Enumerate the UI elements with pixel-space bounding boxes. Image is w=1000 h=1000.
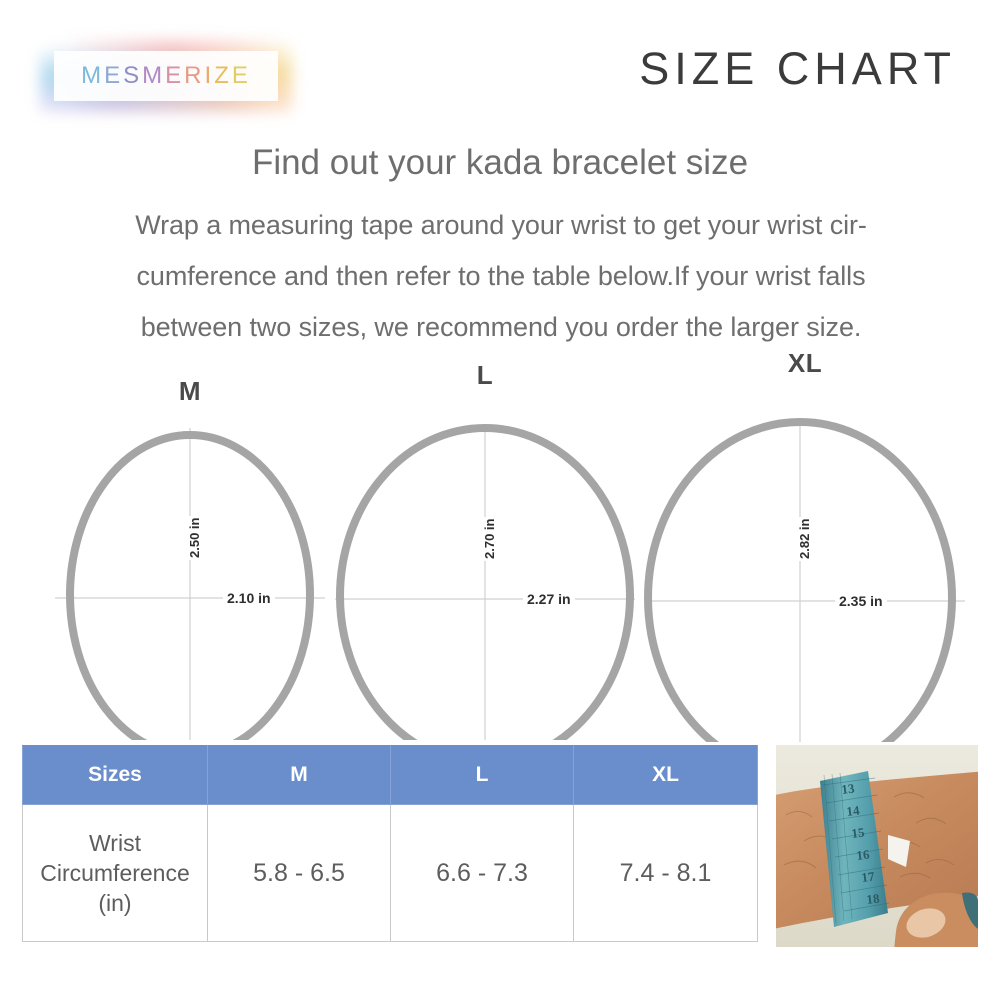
- cell-wrist-xl: 7.4 - 8.1: [574, 805, 758, 942]
- table-header-row: Sizes M L XL: [23, 746, 758, 805]
- oval-width-m: 2.10 in: [223, 590, 275, 606]
- logo-letter: M: [81, 62, 104, 90]
- column-header-m: M: [208, 746, 391, 805]
- oval-height-xl: 2.82 in: [797, 517, 812, 561]
- logo-letter: E: [104, 62, 123, 90]
- logo-letter: M: [142, 62, 165, 90]
- logo-wordmark: M E S M E R I Z E: [54, 51, 278, 101]
- logo-letter: R: [184, 62, 204, 90]
- cell-wrist-l: 6.6 - 7.3: [391, 805, 574, 942]
- logo-letter: I: [205, 62, 215, 90]
- tape-mark: 17: [861, 868, 876, 885]
- brand-logo: M E S M E R I Z E: [40, 40, 292, 112]
- size-diagrams: M 2.50 in 2.10 in L 2.70 in 2.27 in XL 2…: [0, 350, 1000, 740]
- intro-line: Wrap a measuring tape around your wrist …: [48, 200, 954, 251]
- column-header-xl: XL: [574, 746, 758, 805]
- oval-width-l: 2.27 in: [523, 591, 575, 607]
- tape-mark: 16: [856, 846, 871, 863]
- size-diagram-l: L 2.70 in 2.27 in: [325, 356, 645, 740]
- tape-mark: 13: [841, 780, 856, 797]
- logo-letter: E: [165, 62, 184, 90]
- column-header-sizes: Sizes: [23, 746, 208, 805]
- tape-mark: 15: [851, 824, 866, 841]
- intro-paragraph: Wrap a measuring tape around your wrist …: [48, 200, 954, 353]
- wrist-photo-illustration: 13 14 15 16 17 18: [776, 745, 978, 947]
- tape-mark: 14: [846, 802, 861, 819]
- logo-letter: Z: [214, 62, 232, 90]
- size-table: Sizes M L XL Wrist Circumference (in) 5.…: [22, 745, 758, 942]
- size-diagram-xl: XL 2.82 in 2.35 in: [635, 346, 975, 742]
- row-label-wrist-circumference: Wrist Circumference (in): [23, 805, 208, 942]
- oval-height-l: 2.70 in: [482, 517, 497, 561]
- cell-wrist-m: 5.8 - 6.5: [208, 805, 391, 942]
- column-header-l: L: [391, 746, 574, 805]
- oval-width-xl: 2.35 in: [835, 593, 887, 609]
- table-row: Wrist Circumference (in) 5.8 - 6.5 6.6 -…: [23, 805, 758, 942]
- tape-mark: 18: [866, 890, 881, 907]
- page-title: SIZE CHART: [639, 43, 956, 95]
- row-label-line: Wrist: [24, 828, 206, 858]
- section-headline: Find out your kada bracelet size: [0, 143, 1000, 183]
- intro-line: cumference and then refer to the table b…: [48, 251, 954, 302]
- logo-letter: S: [123, 62, 142, 90]
- row-label-line: (in): [24, 888, 206, 918]
- wrist-measuring-photo: 13 14 15 16 17 18: [776, 745, 978, 947]
- row-label-line: Circumference: [24, 858, 206, 888]
- logo-letter: E: [232, 62, 251, 90]
- oval-height-m: 2.50 in: [187, 516, 202, 560]
- size-diagram-m: M 2.50 in 2.10 in: [40, 370, 340, 740]
